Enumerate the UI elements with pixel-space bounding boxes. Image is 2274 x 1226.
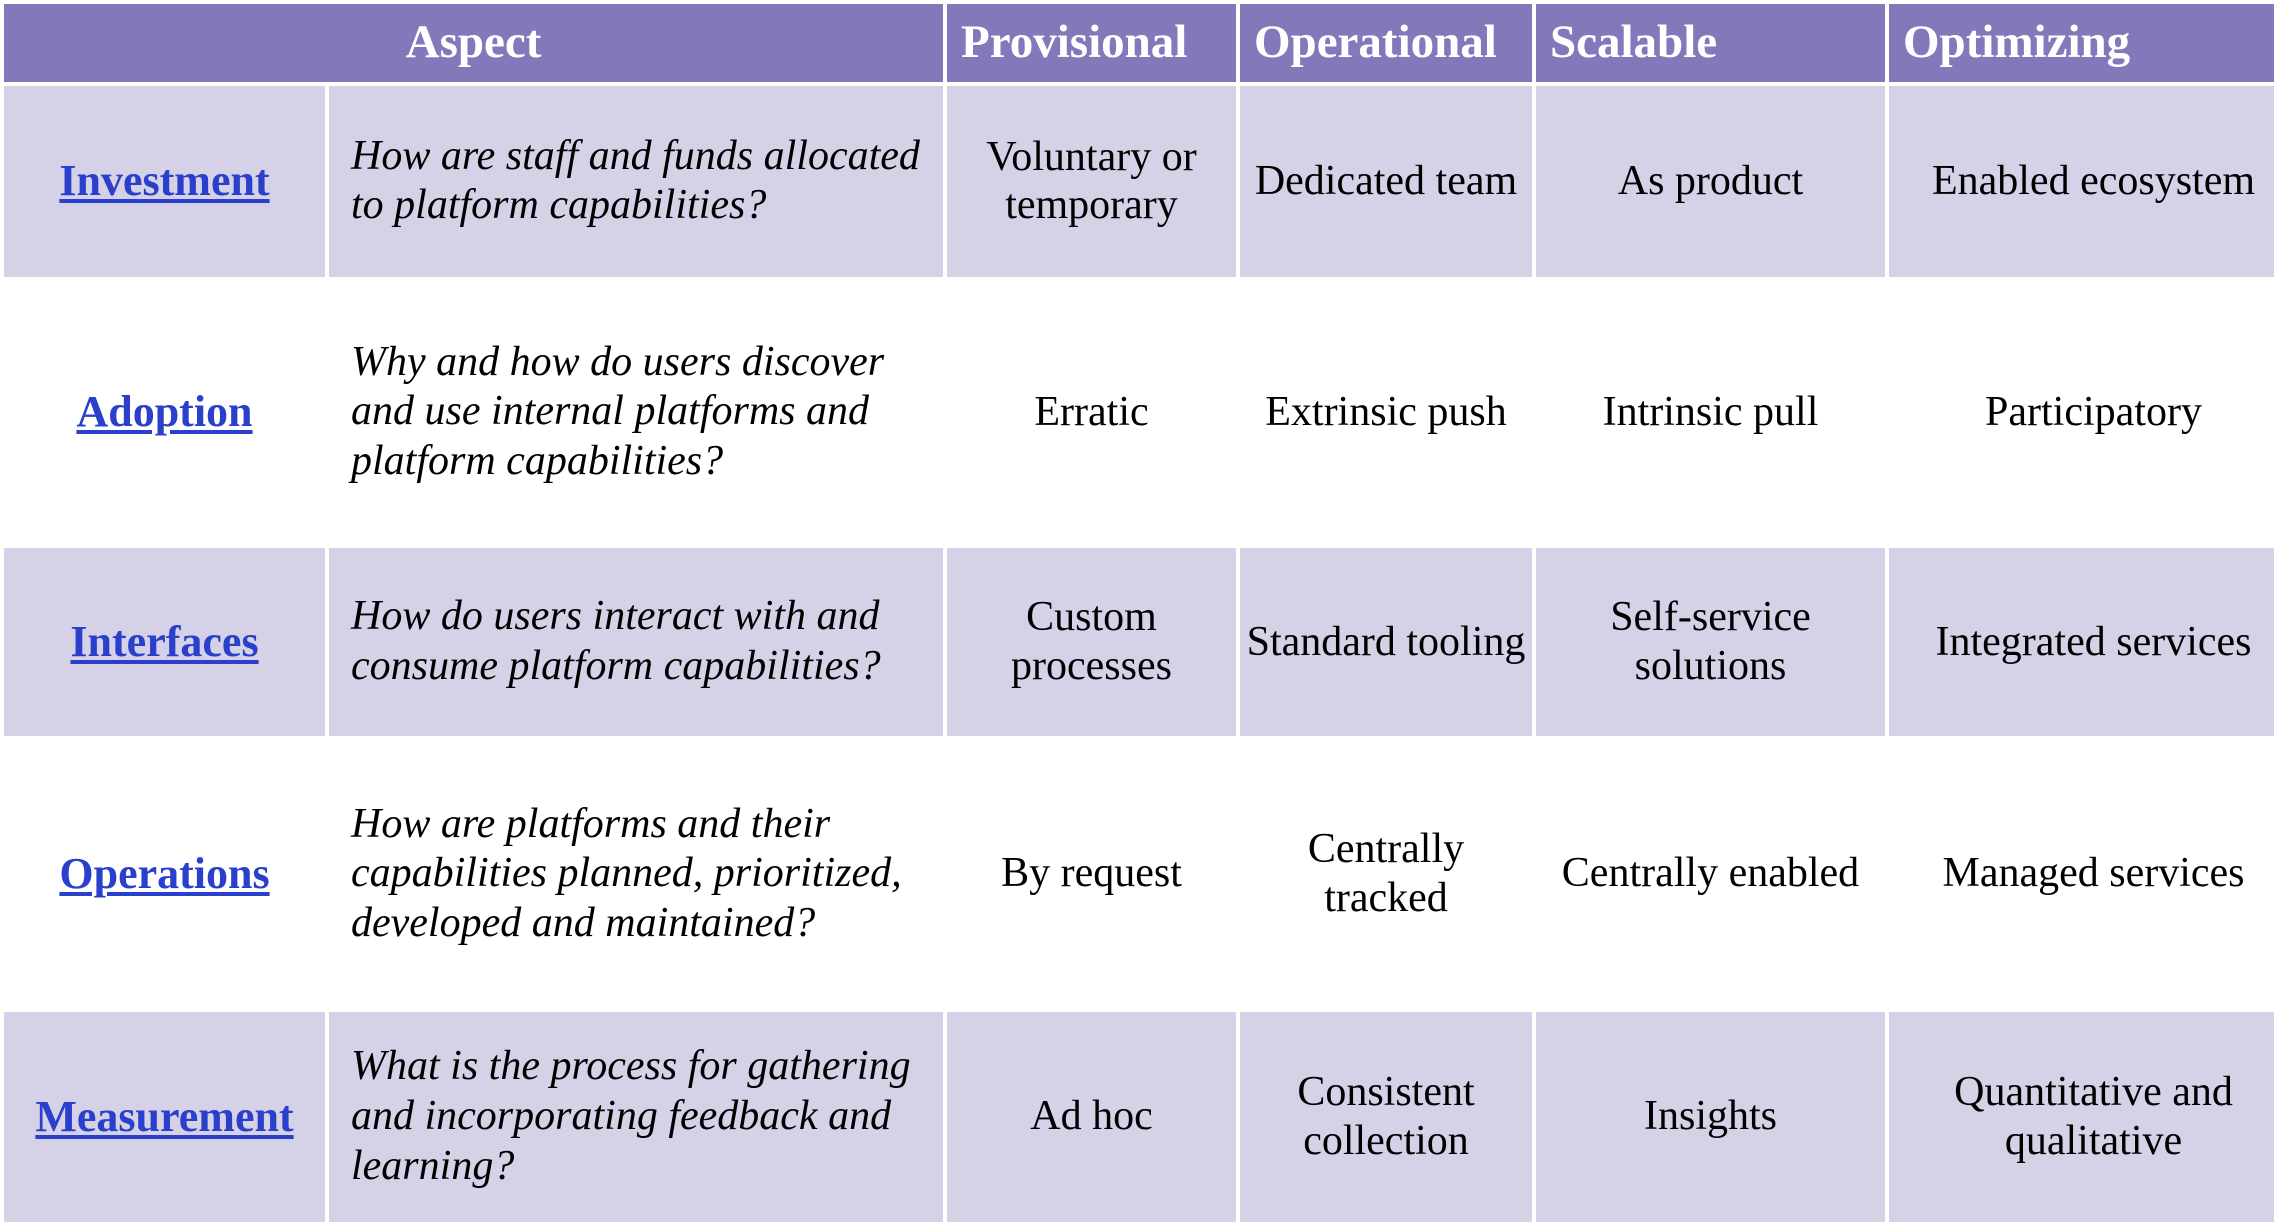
table-row: Investment How are staff and funds alloc… <box>4 86 2274 277</box>
platform-maturity-table: Aspect Provisional Operational Scalable … <box>0 0 2274 1226</box>
aspect-link-interfaces[interactable]: Interfaces <box>70 617 258 666</box>
cell-provisional: Erratic <box>947 281 1236 544</box>
cell-operational: Extrinsic push <box>1240 281 1532 544</box>
aspect-question-cell: Why and how do users discover and use in… <box>329 281 943 544</box>
aspect-label-cell: Investment <box>4 86 325 277</box>
cell-scalable: Centrally enabled <box>1536 740 1885 1007</box>
cell-operational: Standard tooling <box>1240 548 1532 736</box>
aspect-question-cell: How are platforms and their capabilities… <box>329 740 943 1007</box>
table-row: Interfaces How do users interact with an… <box>4 548 2274 736</box>
aspect-label-cell: Interfaces <box>4 548 325 736</box>
table-row: Adoption Why and how do users discover a… <box>4 281 2274 544</box>
aspect-question-cell: How are staff and funds allocated to pla… <box>329 86 943 277</box>
table-row: Measurement What is the process for gath… <box>4 1012 2274 1222</box>
cell-optimizing: Integrated services <box>1889 548 2274 736</box>
cell-scalable: Insights <box>1536 1012 1885 1222</box>
header-row: Aspect Provisional Operational Scalable … <box>4 4 2274 82</box>
column-header-provisional: Provisional <box>947 4 1236 82</box>
aspect-link-adoption[interactable]: Adoption <box>76 387 252 436</box>
cell-operational: Dedicated team <box>1240 86 1532 277</box>
aspect-link-measurement[interactable]: Measurement <box>35 1092 293 1141</box>
cell-provisional: Custom processes <box>947 548 1236 736</box>
aspect-label-cell: Adoption <box>4 281 325 544</box>
table-row: Operations How are platforms and their c… <box>4 740 2274 1007</box>
column-header-optimizing: Optimizing <box>1889 4 2274 82</box>
aspect-link-investment[interactable]: Investment <box>59 156 269 205</box>
cell-operational: Consistent collection <box>1240 1012 1532 1222</box>
cell-operational: Centrally tracked <box>1240 740 1532 1007</box>
cell-scalable: As product <box>1536 86 1885 277</box>
table-body: Investment How are staff and funds alloc… <box>4 86 2274 1222</box>
cell-provisional: By request <box>947 740 1236 1007</box>
cell-optimizing: Participatory <box>1889 281 2274 544</box>
cell-scalable: Self-service solutions <box>1536 548 1885 736</box>
column-header-operational: Operational <box>1240 4 1532 82</box>
aspect-label-cell: Operations <box>4 740 325 1007</box>
cell-scalable: Intrinsic pull <box>1536 281 1885 544</box>
column-header-scalable: Scalable <box>1536 4 1885 82</box>
cell-provisional: Voluntary or temporary <box>947 86 1236 277</box>
cell-optimizing: Managed services <box>1889 740 2274 1007</box>
aspect-link-operations[interactable]: Operations <box>59 849 269 898</box>
aspect-question-cell: What is the process for gathering and in… <box>329 1012 943 1222</box>
cell-optimizing: Enabled ecosystem <box>1889 86 2274 277</box>
cell-provisional: Ad hoc <box>947 1012 1236 1222</box>
table-header: Aspect Provisional Operational Scalable … <box>4 4 2274 82</box>
column-header-aspect: Aspect <box>4 4 943 82</box>
cell-optimizing: Quantitative and qualitative <box>1889 1012 2274 1222</box>
aspect-question-cell: How do users interact with and consume p… <box>329 548 943 736</box>
aspect-label-cell: Measurement <box>4 1012 325 1222</box>
